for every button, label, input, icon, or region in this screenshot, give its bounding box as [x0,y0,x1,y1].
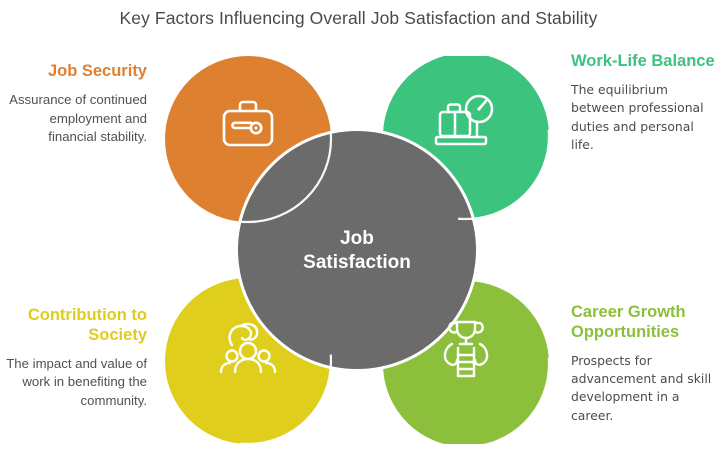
segment-body-contribution-to-society: The impact and value of work in benefiti… [0,355,147,411]
segment-text-career-growth-opportunities: Career Growth Opportunities Prospects fo… [571,303,717,425]
segment-heading-job-security: Job Security [0,62,147,82]
segment-heading-career-growth-opportunities: Career Growth Opportunities [571,303,717,343]
segment-heading-contribution-to-society: Contribution to Society [0,306,147,346]
segment-heading-work-life-balance: Work-Life Balance [571,52,717,72]
segment-text-job-security: Job Security Assurance of continued empl… [0,62,147,147]
page-title: Key Factors Influencing Overall Job Sati… [0,8,717,29]
center-hub-circle[interactable] [238,131,476,369]
segment-body-work-life-balance: The equilibrium between professional dut… [571,81,717,154]
segment-text-contribution-to-society: Contribution to Society The impact and v… [0,306,147,411]
segment-body-job-security: Assurance of continued employment and fi… [0,91,147,147]
center-label-line1: Job [340,228,374,249]
infographic-canvas: Key Factors Influencing Overall Job Sati… [0,0,717,468]
segment-body-career-growth-opportunities: Prospects for advancement and skill deve… [571,352,717,425]
venn-diagram: Job Satisfaction [165,56,549,444]
segment-text-work-life-balance: Work-Life Balance The equilibrium betwee… [571,52,717,154]
center-label-line2: Satisfaction [303,252,411,273]
